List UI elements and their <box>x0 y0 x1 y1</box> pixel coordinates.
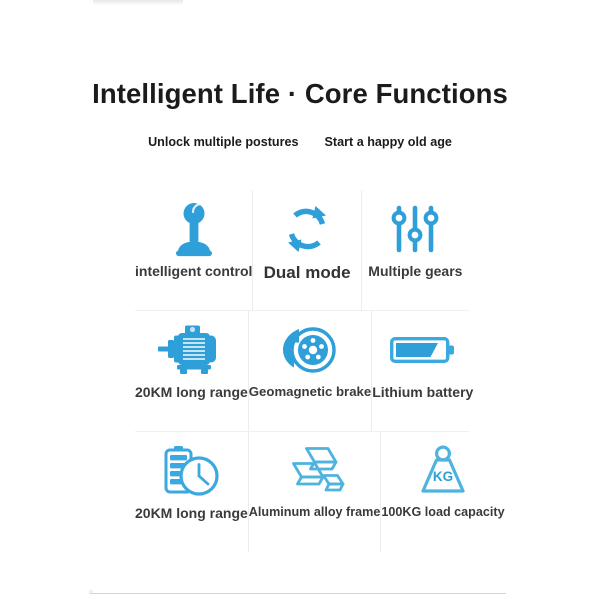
subtitle-right: Start a happy old age <box>325 135 452 149</box>
feature-cell-long-range-time[interactable]: 20KM long range <box>135 432 248 552</box>
feature-label: Aluminum alloy frame <box>249 506 381 519</box>
promo-feature-banner: Intelligent Life · Core Functions Unlock… <box>0 0 600 600</box>
aluminum-ingots-icon <box>283 432 347 506</box>
top-edge-artifact <box>93 0 183 5</box>
page-title: Intelligent Life · Core Functions <box>0 78 600 110</box>
feature-label: Multiple gears <box>368 264 462 278</box>
feature-label: Lithium battery <box>372 385 473 399</box>
feature-cell-dual-mode[interactable]: Dual mode <box>252 190 360 310</box>
feature-label: 20KM long range <box>135 506 248 520</box>
joystick-icon <box>168 190 220 264</box>
bottom-divider <box>90 593 506 594</box>
electric-motor-icon <box>158 311 224 385</box>
feature-row: intelligent control Dual <box>135 190 469 310</box>
feature-label: intelligent control <box>135 264 252 278</box>
battery-icon <box>390 311 456 385</box>
feature-label: 100KG load capacity <box>381 506 504 519</box>
feature-label: Geomagnetic brake <box>249 385 371 398</box>
sliders-icon <box>390 190 440 264</box>
feature-label: Dual mode <box>264 264 351 281</box>
feature-cell-load-capacity[interactable]: KG 100KG load capacity <box>380 432 504 552</box>
feature-cell-lithium-battery[interactable]: Lithium battery <box>371 311 473 431</box>
feature-cell-multiple-gears[interactable]: Multiple gears <box>361 190 469 310</box>
feature-grid: intelligent control Dual <box>135 190 469 550</box>
subtitle-left: Unlock multiple postures <box>148 135 298 149</box>
kg-weight-icon: KG <box>417 432 469 506</box>
feature-row: 20KM long range <box>135 310 469 431</box>
kg-weight-label: KG <box>433 469 453 484</box>
feature-cell-long-range-motor[interactable]: 20KM long range <box>135 311 248 431</box>
brake-disc-icon <box>281 311 339 385</box>
feature-cell-geomagnetic-brake[interactable]: Geomagnetic brake <box>248 311 371 431</box>
page-subtitle: Unlock multiple posturesStart a happy ol… <box>0 135 600 149</box>
refresh-sync-icon <box>279 190 335 264</box>
feature-cell-aluminum-frame[interactable]: Aluminum alloy frame <box>248 432 381 552</box>
feature-cell-intelligent-control[interactable]: intelligent control <box>135 190 252 310</box>
feature-row: 20KM long range Alumi <box>135 431 469 552</box>
battery-clock-icon <box>161 432 221 506</box>
feature-label: 20KM long range <box>135 385 248 399</box>
